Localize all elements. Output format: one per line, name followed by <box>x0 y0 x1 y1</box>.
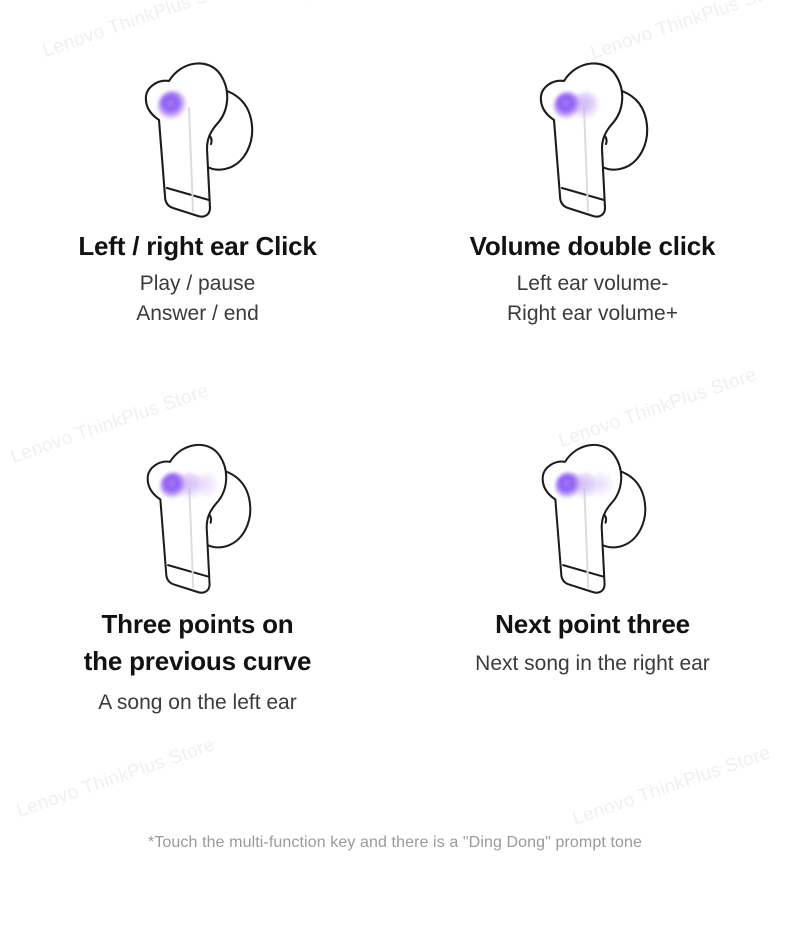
panel-text-block: Next point three Next song in the right … <box>395 606 790 679</box>
panel-subtitle-line: Next song in the right ear <box>395 649 790 679</box>
panel-title: Left / right ear Click <box>0 228 395 265</box>
panel-title: Next point three <box>395 606 790 643</box>
panel-title: Three points on <box>0 606 395 643</box>
panel-subtitle-line: Answer / end <box>0 299 395 329</box>
panel-left-right-ear-click: Left / right ear Click Play / pause Answ… <box>0 0 395 382</box>
panel-next-point-three: Next point three Next song in the right … <box>395 382 790 754</box>
earbud-touch-double-tap-icon <box>513 48 673 220</box>
panel-title: the previous curve <box>0 643 395 680</box>
panel-subtitle-line: A song on the left ear <box>0 688 395 718</box>
watermark-text: Lenovo ThinkPlus Store <box>570 742 774 831</box>
panel-text-block: Three points on the previous curve A son… <box>0 606 395 718</box>
earbud-touch-single-tap-icon <box>118 48 278 220</box>
touch-indicator-dot <box>554 92 600 120</box>
panel-subtitle-line: Right ear volume+ <box>395 299 790 329</box>
panel-text-block: Left / right ear Click Play / pause Answ… <box>0 228 395 330</box>
footer-note: *Touch the multi-function key and there … <box>0 834 790 852</box>
panel-subtitle-line: Left ear volume- <box>395 269 790 299</box>
touch-indicator-dot <box>555 472 615 499</box>
panel-subtitle-line: Play / pause <box>0 269 395 299</box>
panel-three-points-previous-curve: Three points on the previous curve A son… <box>0 382 395 754</box>
earbud-touch-triple-tap-icon <box>513 430 673 590</box>
earbud-touch-triple-tap-icon <box>118 430 278 590</box>
touch-indicator-dot <box>158 91 188 121</box>
panel-title: Volume double click <box>395 228 790 265</box>
touch-indicator-dot <box>160 472 220 499</box>
panel-volume-double-click: Volume double click Left ear volume- Rig… <box>395 0 790 382</box>
panel-text-block: Volume double click Left ear volume- Rig… <box>395 228 790 330</box>
gesture-guide-grid: Left / right ear Click Play / pause Answ… <box>0 0 790 754</box>
